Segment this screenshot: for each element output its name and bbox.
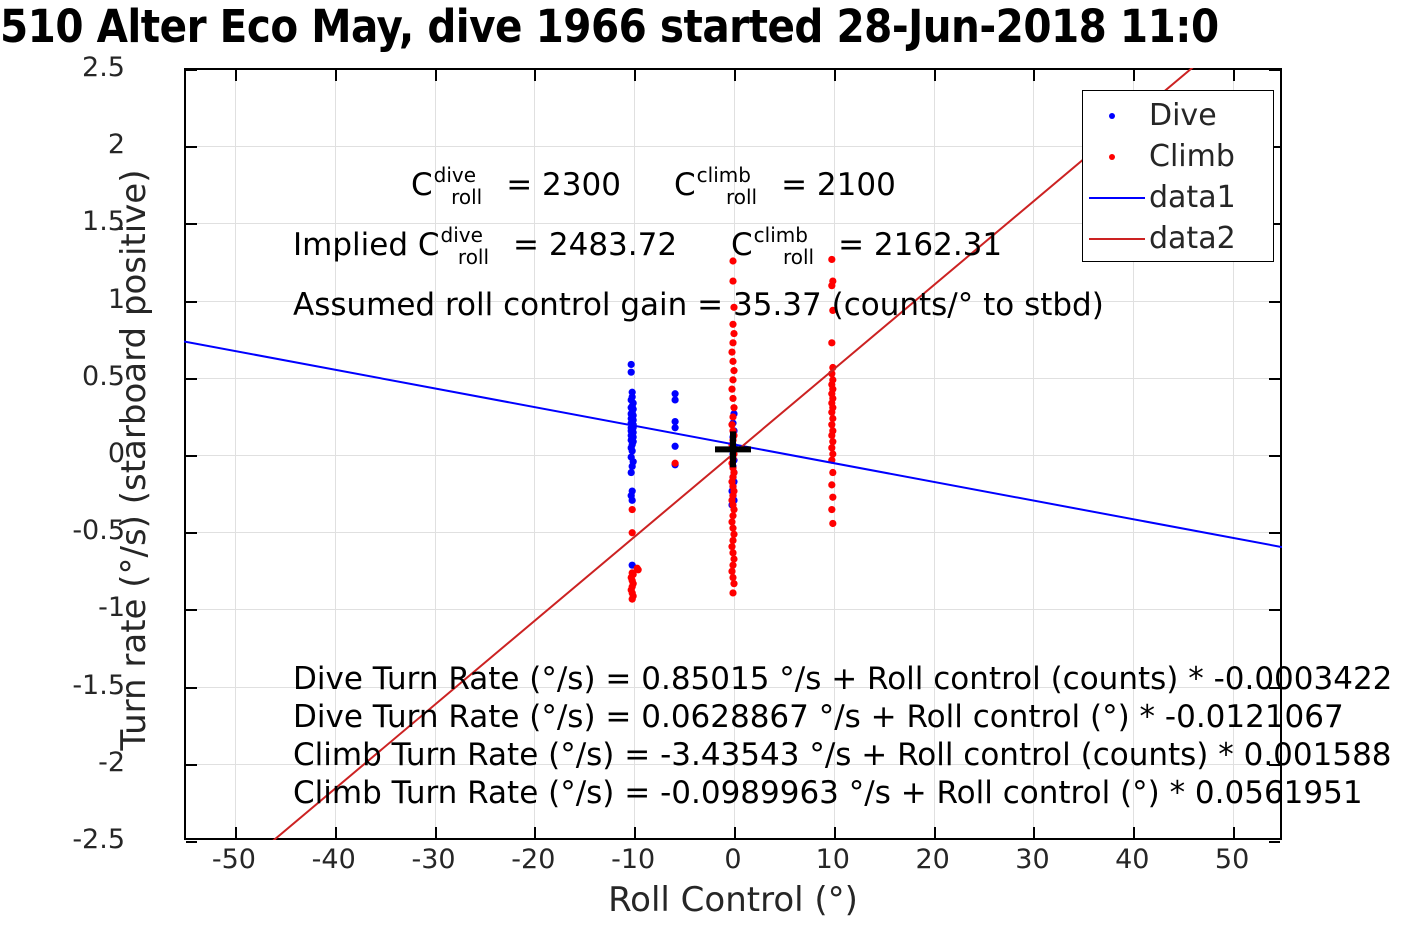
x-tick-label: 30	[987, 846, 1077, 873]
x-axis-tick	[435, 827, 437, 838]
c-dive-subscript: roll	[451, 185, 482, 209]
y-axis-tick	[186, 378, 197, 380]
x-axis-tick	[834, 827, 836, 838]
x-axis-tick	[235, 827, 237, 838]
y-axis-title: Turn rate (°/s) (starboard positive)	[114, 75, 154, 845]
legend-swatch-data2	[1083, 218, 1149, 259]
y-tick-label: 1.5	[5, 208, 125, 235]
x-axis-tick	[335, 70, 337, 81]
legend-line-icon	[1089, 238, 1145, 240]
gridline-vertical	[235, 70, 236, 838]
legend-label: Dive	[1149, 101, 1217, 131]
y-axis-tick	[186, 455, 197, 457]
y-axis-tick	[186, 764, 197, 766]
y-tick-label: 0.5	[5, 363, 125, 390]
legend-item-climb[interactable]: Climb	[1083, 136, 1273, 177]
x-axis-tick	[534, 827, 536, 838]
implied-dive-superscript: dive	[441, 223, 483, 247]
legend-item-dive[interactable]: Dive	[1083, 95, 1273, 136]
x-tick-label: 0	[688, 846, 778, 873]
y-axis-tick	[1269, 841, 1280, 843]
x-tick-label: 20	[888, 846, 978, 873]
x-tick-label: 40	[1087, 846, 1177, 873]
y-axis-tick	[186, 687, 197, 689]
legend-swatch-data1	[1083, 177, 1149, 218]
y-axis-tick	[186, 146, 197, 148]
annotation-implied-c-dive: Implied Cdiveroll= 2483.72	[293, 228, 677, 265]
y-tick-label: 0	[5, 440, 125, 467]
legend-marker-dot-icon	[1109, 154, 1115, 160]
y-tick-label: 1	[5, 286, 125, 313]
x-axis-tick	[1133, 70, 1135, 81]
legend-item-data2[interactable]: data2	[1083, 218, 1273, 259]
equation-dive-counts: Dive Turn Rate (°/s) = 0.85015 °/s + Rol…	[293, 660, 1392, 698]
x-tick-label: 10	[788, 846, 878, 873]
c-climb-symbol: C	[674, 167, 696, 203]
x-tick-label: -40	[289, 846, 379, 873]
y-axis-tick	[1269, 301, 1280, 303]
c-climb-superscript: climb	[697, 163, 751, 187]
y-tick-label: -2	[5, 749, 125, 776]
c-climb-subscript: roll	[726, 185, 757, 209]
x-axis-tick	[1033, 827, 1035, 838]
legend-marker-dot-icon	[1109, 113, 1115, 119]
y-axis-tick	[1269, 455, 1280, 457]
c-dive-superscript: dive	[434, 163, 476, 187]
x-axis-tick	[1133, 827, 1135, 838]
x-tick-label: -20	[488, 846, 578, 873]
legend-line-icon	[1089, 197, 1145, 199]
x-axis-tick	[734, 827, 736, 838]
legend-label: data2	[1149, 224, 1236, 254]
x-axis-tick	[435, 70, 437, 81]
y-axis-tick	[1269, 609, 1280, 611]
x-tick-label: -30	[389, 846, 479, 873]
implied-climb-symbol: C	[731, 227, 753, 263]
y-axis-tick	[186, 532, 197, 534]
y-tick-label: 2	[5, 131, 125, 158]
y-tick-label: -2.5	[5, 826, 125, 853]
y-axis-tick	[1269, 69, 1280, 71]
x-axis-tick	[634, 827, 636, 838]
legend-label: Climb	[1149, 142, 1235, 172]
y-axis-tick	[1269, 532, 1280, 534]
y-tick-label: -1	[5, 594, 125, 621]
equation-climb-degrees: Climb Turn Rate (°/s) = -0.0989963 °/s +…	[293, 774, 1363, 812]
equation-dive-degrees: Dive Turn Rate (°/s) = 0.0628867 °/s + R…	[293, 698, 1344, 736]
implied-climb-subscript: roll	[783, 245, 814, 269]
implied-climb-superscript: climb	[754, 223, 808, 247]
x-axis-tick	[1233, 70, 1235, 81]
x-axis-tick	[734, 70, 736, 81]
x-axis-tick	[1033, 70, 1035, 81]
gridline-horizontal	[186, 378, 1280, 379]
c-climb-value: = 2100	[781, 167, 896, 203]
legend-label: data1	[1149, 183, 1236, 213]
gridline-horizontal	[186, 455, 1280, 456]
x-axis-tick	[1233, 827, 1235, 838]
equation-climb-counts: Climb Turn Rate (°/s) = -3.43543 °/s + R…	[293, 736, 1392, 774]
annotation-implied-c-climb: Cclimbroll= 2162.31	[731, 228, 1002, 265]
y-axis-tick	[186, 301, 197, 303]
y-tick-label: -1.5	[5, 672, 125, 699]
x-axis-tick	[235, 70, 237, 81]
x-tick-label: -10	[588, 846, 678, 873]
y-tick-label: -0.5	[5, 517, 125, 544]
y-axis-tick	[186, 609, 197, 611]
y-axis-tick	[186, 841, 197, 843]
legend-swatch-climb	[1083, 136, 1149, 177]
gridline-horizontal	[186, 532, 1280, 533]
x-axis-tick	[534, 70, 536, 81]
legend-item-data1[interactable]: data1	[1083, 177, 1273, 218]
gridline-horizontal	[186, 609, 1280, 610]
x-axis-tick	[934, 827, 936, 838]
annotation-c-climb-setpoint: Cclimbroll= 2100	[674, 168, 896, 205]
implied-climb-value: = 2162.31	[838, 227, 1002, 263]
implied-dive-subscript: roll	[458, 245, 489, 269]
y-tick-label: 2.5	[5, 54, 125, 81]
x-axis-tick	[335, 827, 337, 838]
x-axis-tick	[934, 70, 936, 81]
x-tick-label: 50	[1187, 846, 1277, 873]
x-tick-label: -50	[189, 846, 279, 873]
annotation-roll-control-gain: Assumed roll control gain = 35.37 (count…	[293, 288, 1104, 322]
y-axis-tick	[186, 223, 197, 225]
y-axis-tick	[1269, 378, 1280, 380]
legend-swatch-dive	[1083, 95, 1149, 136]
annotation-c-roll-setpoints: Cdiveroll= 2300	[411, 168, 621, 205]
implied-dive-value: = 2483.72	[513, 227, 677, 263]
implied-prefix: Implied C	[293, 227, 440, 263]
c-dive-value: = 2300	[506, 167, 621, 203]
page-title: 510 Alter Eco May, dive 1966 started 28-…	[0, 0, 1417, 56]
legend: DiveClimbdata1data2	[1082, 90, 1274, 262]
x-axis-tick	[634, 70, 636, 81]
c-dive-symbol: C	[411, 167, 433, 203]
x-axis-tick	[834, 70, 836, 81]
x-axis-title: Roll Control (°)	[184, 880, 1282, 920]
y-axis-tick	[186, 69, 197, 71]
